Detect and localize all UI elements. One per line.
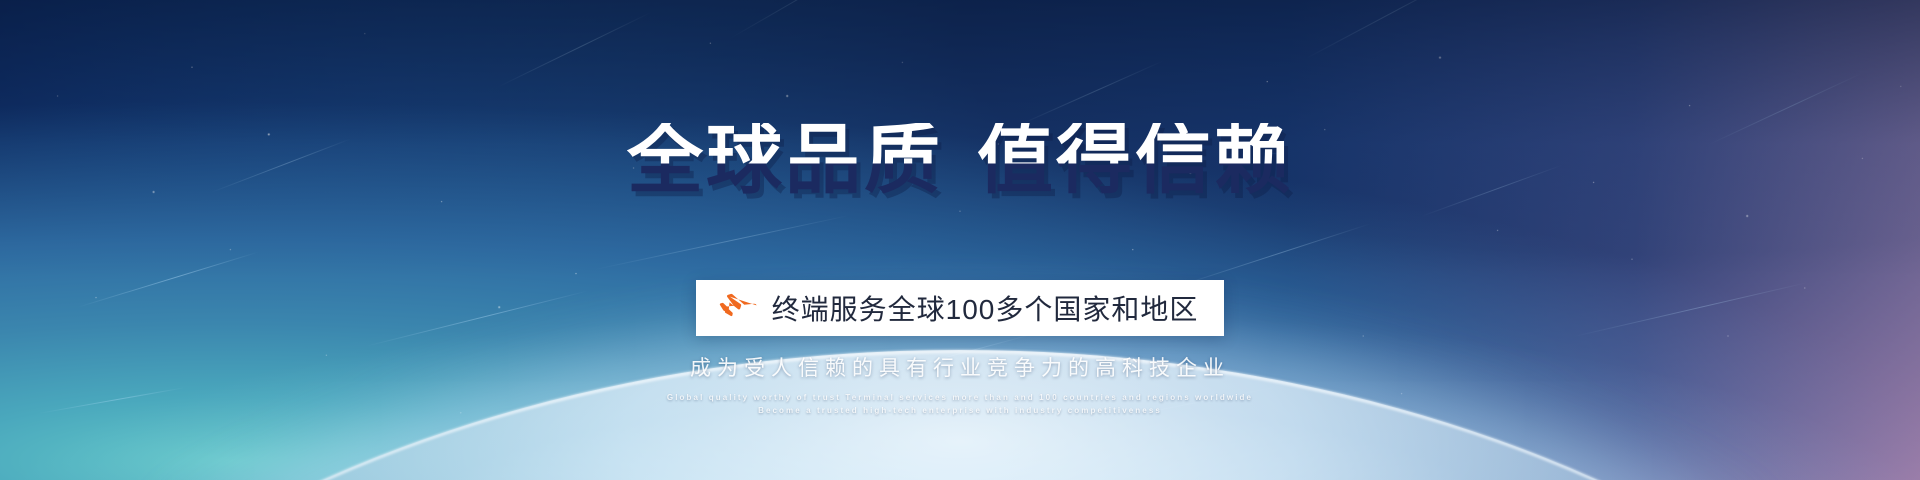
banner-tagline: 成为受人信赖的具有行业竞争力的高科技企业 (690, 352, 1230, 382)
airplane-icon (718, 293, 758, 323)
english-subtext-line-2: Become a trusted high-tech enterprise wi… (667, 404, 1253, 417)
service-coverage-text: 终端服务全球100多个国家和地区 (772, 288, 1199, 328)
headline-part-2: 值得信赖 (977, 118, 1293, 203)
hero-banner: 全球品质值得信赖 终端服务全球100多个国家和地区 成为受人信赖的具有行业竞争力… (0, 0, 1920, 480)
english-subtext-line-1: Global quality worthy of trust Terminal … (667, 391, 1253, 404)
service-coverage-plate: 终端服务全球100多个国家和地区 (696, 280, 1225, 336)
banner-headline: 全球品质值得信赖 (627, 123, 1293, 199)
headline-part-1: 全球品质 (627, 118, 943, 203)
english-subtext-block: Global quality worthy of trust Terminal … (667, 391, 1253, 417)
banner-content: 全球品质值得信赖 终端服务全球100多个国家和地区 成为受人信赖的具有行业竞争力… (0, 0, 1920, 480)
